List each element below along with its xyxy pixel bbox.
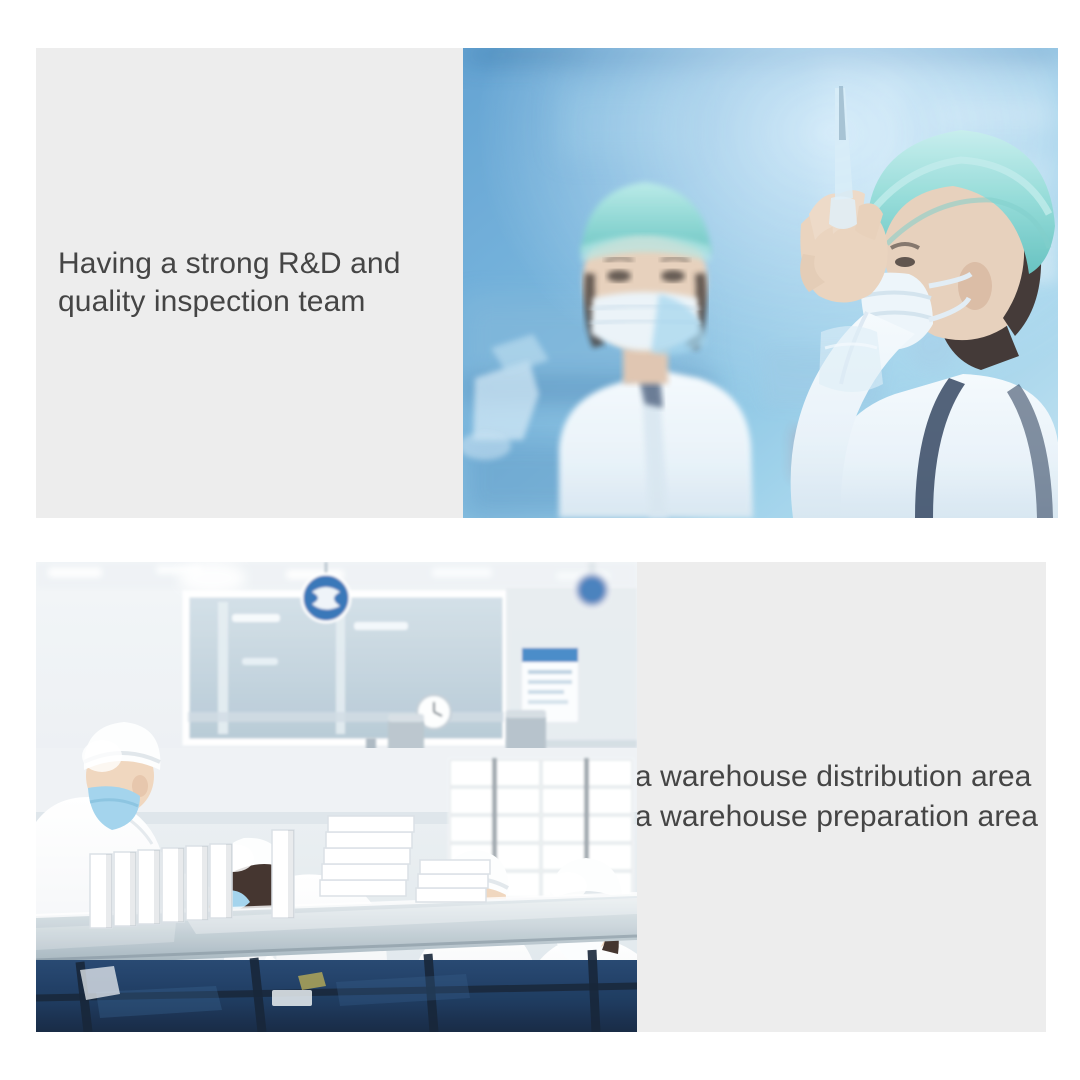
top-caption-panel: Having a strong R&D and quality inspecti…	[36, 48, 480, 518]
banner-page: Having a strong R&D and quality inspecti…	[0, 0, 1080, 1080]
rd-quality-inspection-photo	[463, 48, 1058, 518]
bottom-section: a warehouse distribution area a warehous…	[36, 562, 1046, 1032]
bottom-caption-text: a warehouse distribution area a warehous…	[635, 757, 1046, 836]
top-caption-text: Having a strong R&D and quality inspecti…	[36, 245, 412, 322]
warehouse-packing-photo	[36, 562, 637, 1032]
top-section: Having a strong R&D and quality inspecti…	[36, 48, 1058, 518]
warehouse-packing-illustration	[36, 562, 637, 1032]
lab-inspection-illustration	[463, 48, 1058, 518]
